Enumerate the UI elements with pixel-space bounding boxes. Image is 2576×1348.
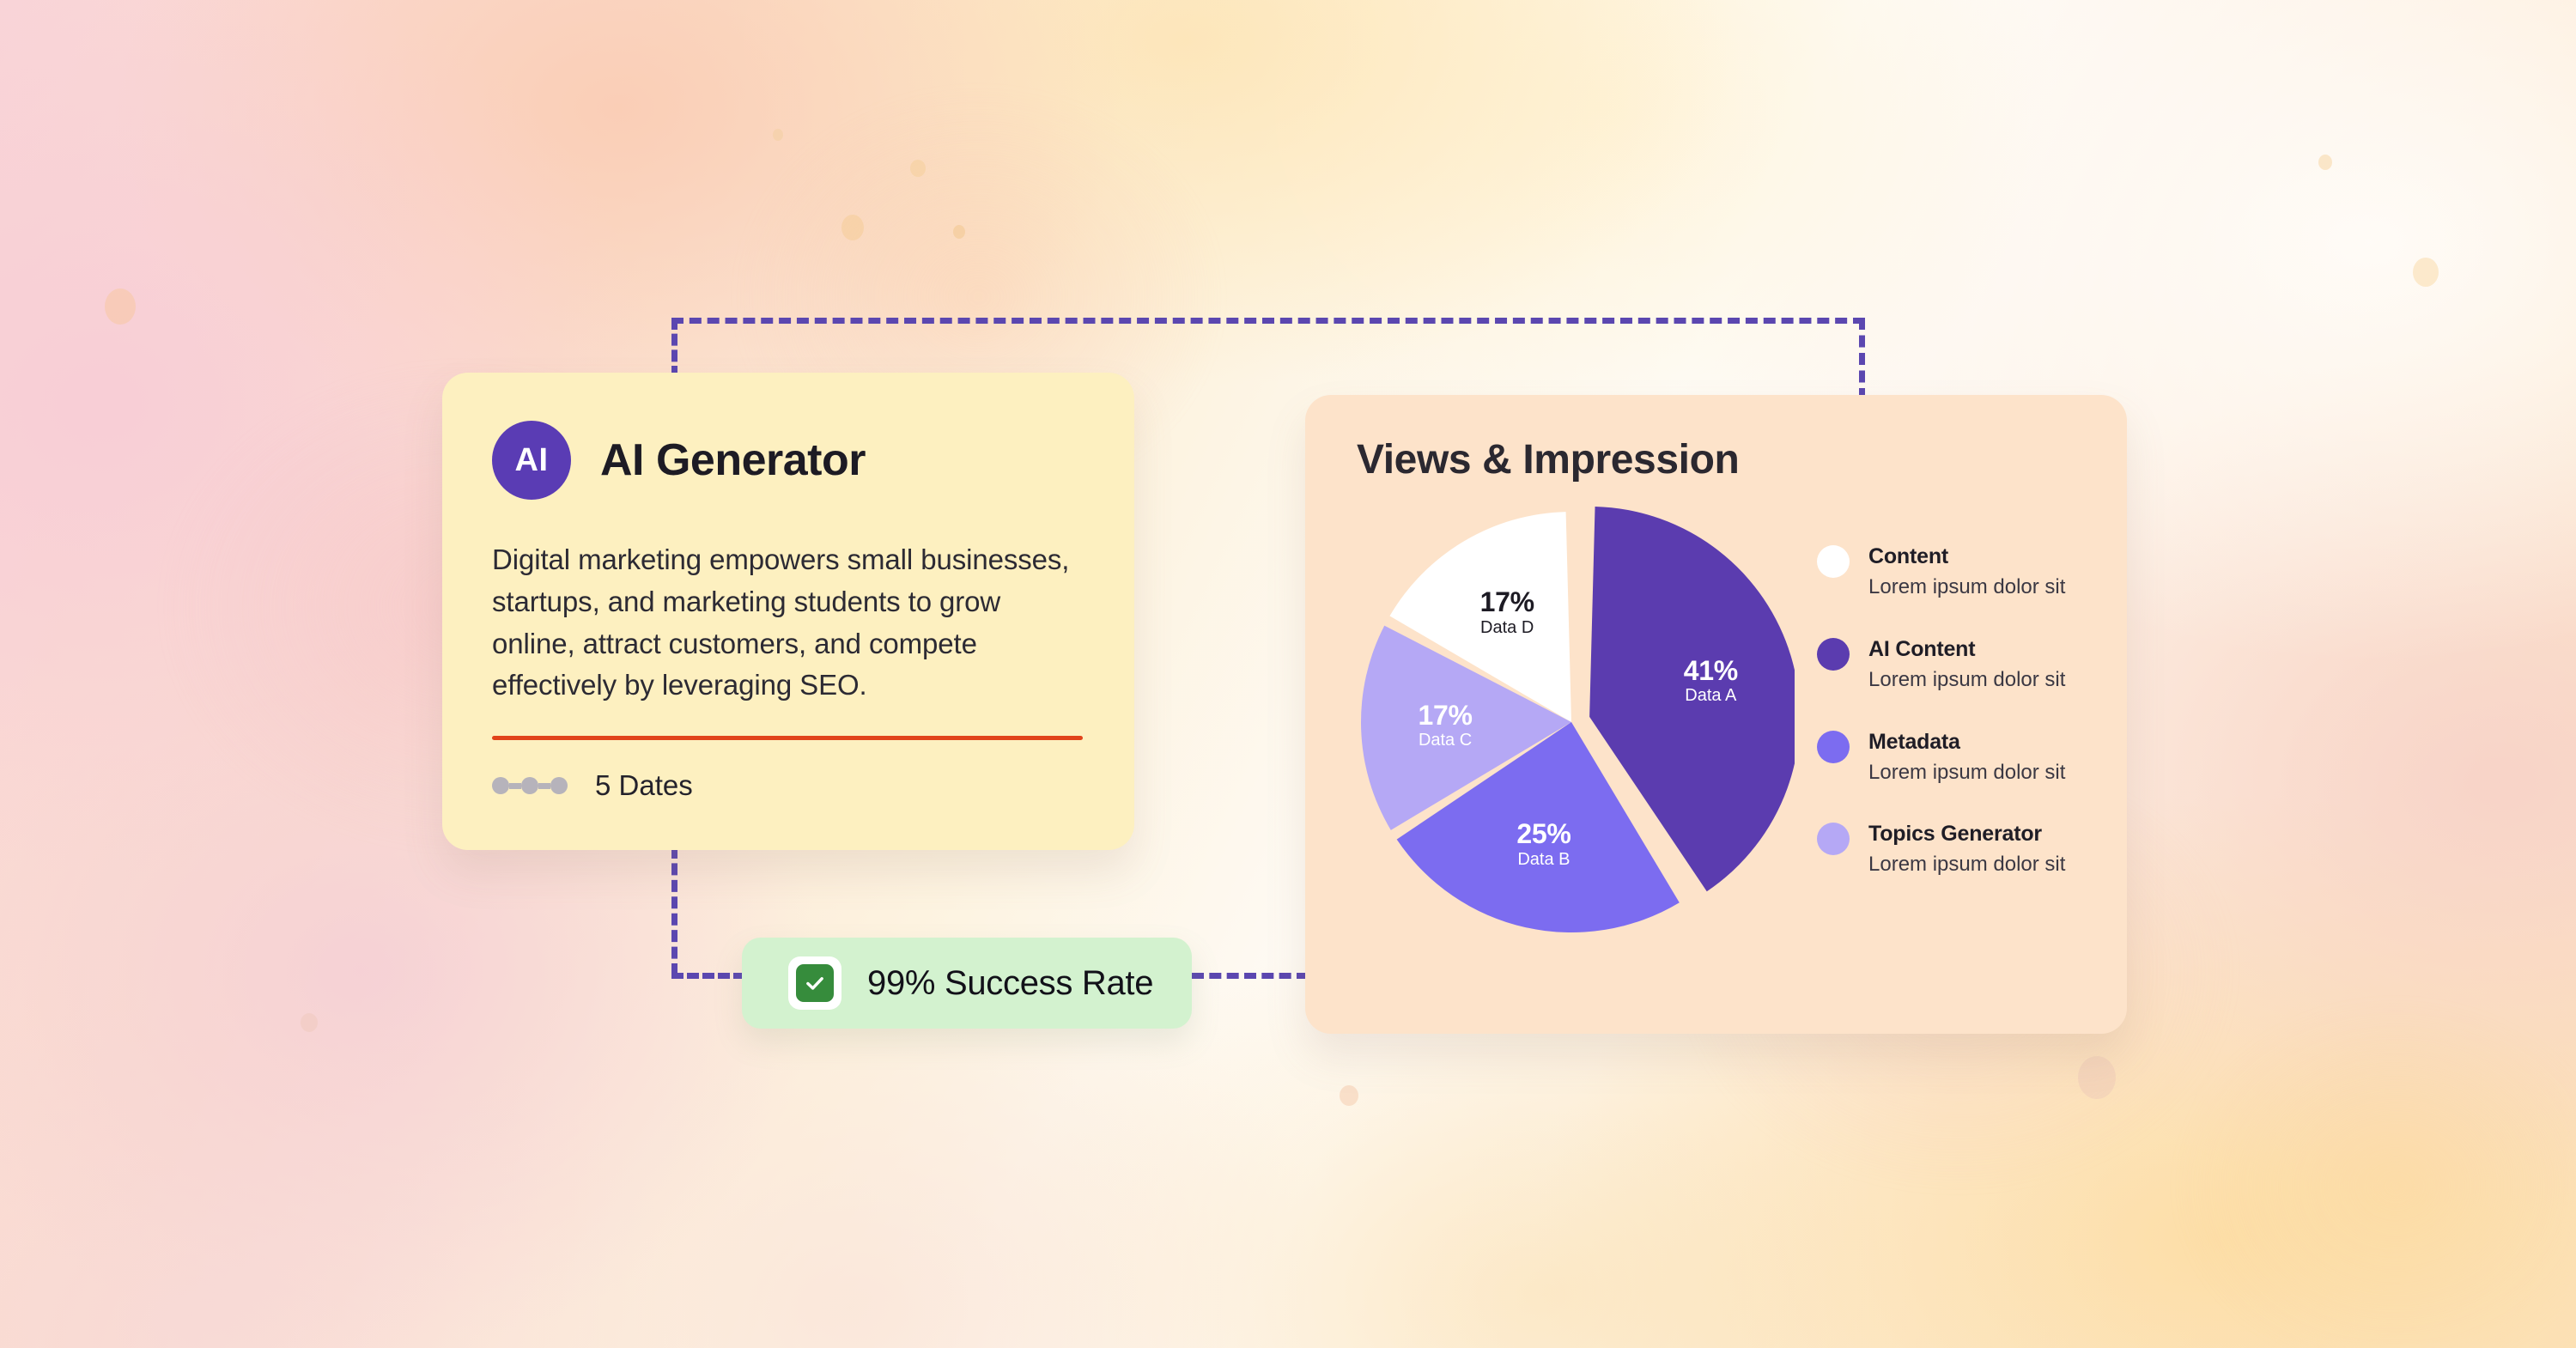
background-specks — [0, 0, 2576, 1348]
legend-item-label: Topics Generator — [1868, 821, 2065, 847]
pie-chart-svg — [1348, 499, 1795, 945]
page-title: AI Generator — [600, 434, 866, 486]
ai-card-description: Digital marketing empowers small busines… — [492, 539, 1083, 707]
legend-item-label: Content — [1868, 543, 2065, 569]
legend-item-sublabel: Lorem ipsum dolor sit — [1868, 761, 2065, 786]
check-square-icon — [788, 956, 841, 1010]
connector-top-horizontal — [671, 318, 1865, 324]
dots-connected-icon — [492, 777, 568, 794]
divider — [492, 736, 1083, 740]
legend-text: Topics GeneratorLorem ipsum dolor sit — [1868, 821, 2065, 877]
views-impression-card[interactable]: Views & Impression 41%Data A25%Data B17%… — [1305, 395, 2127, 1034]
legend-swatch-icon — [1817, 638, 1850, 671]
connector-badge-left-horizontal — [671, 973, 745, 979]
chart-legend: ContentLorem ipsum dolor sitAI ContentLo… — [1817, 543, 2127, 914]
dates-count-label: 5 Dates — [595, 769, 693, 802]
background-gradient — [0, 0, 2576, 1348]
legend-swatch-icon — [1817, 823, 1850, 855]
legend-item-sublabel: Lorem ipsum dolor sit — [1868, 853, 2065, 877]
canvas: AI AI Generator Digital marketing empowe… — [0, 0, 2576, 1348]
legend-item-label: Metadata — [1868, 729, 2065, 755]
legend-item-label: AI Content — [1868, 636, 2065, 662]
legend-swatch-icon — [1817, 545, 1850, 578]
connector-badge-right-horizontal — [1192, 973, 1309, 979]
avatar: AI — [492, 421, 571, 500]
ai-card-footer: 5 Dates — [492, 769, 1134, 802]
legend-text: AI ContentLorem ipsum dolor sit — [1868, 636, 2065, 693]
legend-text: MetadataLorem ipsum dolor sit — [1868, 729, 2065, 786]
status-badge-label: 99% Success Rate — [867, 964, 1153, 1003]
chart-area: 41%Data A25%Data B17%Data C17%Data D Con… — [1305, 499, 2127, 945]
legend-item[interactable]: MetadataLorem ipsum dolor sit — [1817, 729, 2127, 786]
legend-item[interactable]: AI ContentLorem ipsum dolor sit — [1817, 636, 2127, 693]
background-watercolor-wash — [0, 0, 2576, 1348]
legend-item[interactable]: Topics GeneratorLorem ipsum dolor sit — [1817, 821, 2127, 877]
pie-chart[interactable]: 41%Data A25%Data B17%Data C17%Data D — [1348, 499, 1795, 945]
chart-title: Views & Impression — [1357, 436, 2127, 483]
ai-card-header: AI AI Generator — [442, 373, 1134, 500]
connector-top-right-vertical — [1859, 318, 1865, 400]
legend-item-sublabel: Lorem ipsum dolor sit — [1868, 575, 2065, 600]
ai-generator-card[interactable]: AI AI Generator Digital marketing empowe… — [442, 373, 1134, 850]
status-badge[interactable]: 99% Success Rate — [742, 938, 1192, 1029]
legend-item-sublabel: Lorem ipsum dolor sit — [1868, 668, 2065, 693]
legend-text: ContentLorem ipsum dolor sit — [1868, 543, 2065, 600]
legend-swatch-icon — [1817, 731, 1850, 763]
legend-item[interactable]: ContentLorem ipsum dolor sit — [1817, 543, 2127, 600]
connector-bottom-left-vertical — [671, 847, 677, 975]
connector-top-left-vertical — [671, 318, 677, 378]
